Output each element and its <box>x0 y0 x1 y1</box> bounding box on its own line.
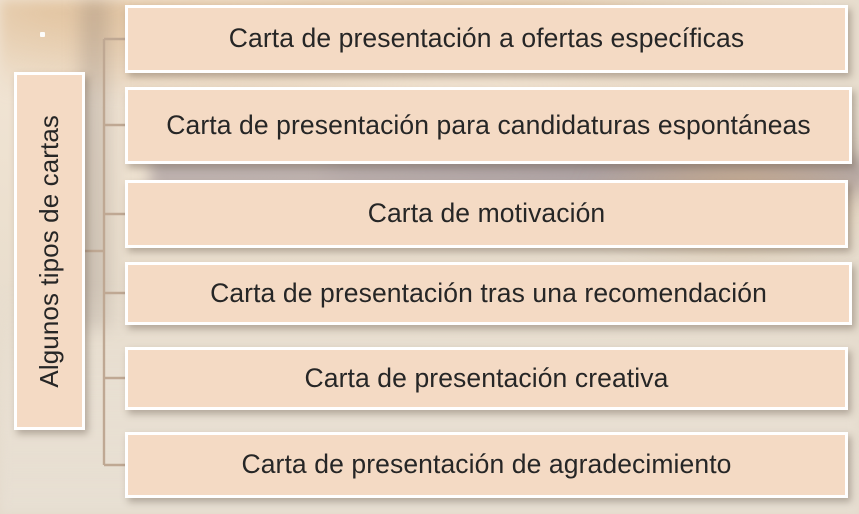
node-carta-ofertas-especificas[interactable]: Carta de presentación a ofertas específi… <box>125 5 848 73</box>
node-carta-agradecimiento[interactable]: Carta de presentación de agradecimiento <box>125 432 848 498</box>
slide-canvas: Algunos tipos de cartas Carta de present… <box>0 0 859 514</box>
root-node[interactable]: Algunos tipos de cartas <box>14 72 85 430</box>
node-label: Carta de presentación creativa <box>128 363 845 394</box>
white-speck-artifact <box>40 32 45 37</box>
root-node-label: Algunos tipos de cartas <box>34 115 65 388</box>
node-label: Carta de motivación <box>128 198 845 229</box>
node-label: Carta de presentación a ofertas específi… <box>128 23 845 54</box>
node-carta-recomendacion[interactable]: Carta de presentación tras una recomenda… <box>125 262 852 325</box>
node-carta-creativa[interactable]: Carta de presentación creativa <box>125 347 848 410</box>
node-carta-candidaturas-espontaneas[interactable]: Carta de presentación para candidaturas … <box>125 87 852 164</box>
node-label: Carta de presentación para candidaturas … <box>128 110 849 141</box>
node-label: Carta de presentación de agradecimiento <box>128 449 845 480</box>
node-label: Carta de presentación tras una recomenda… <box>128 278 849 309</box>
node-carta-motivacion[interactable]: Carta de motivación <box>125 180 848 248</box>
